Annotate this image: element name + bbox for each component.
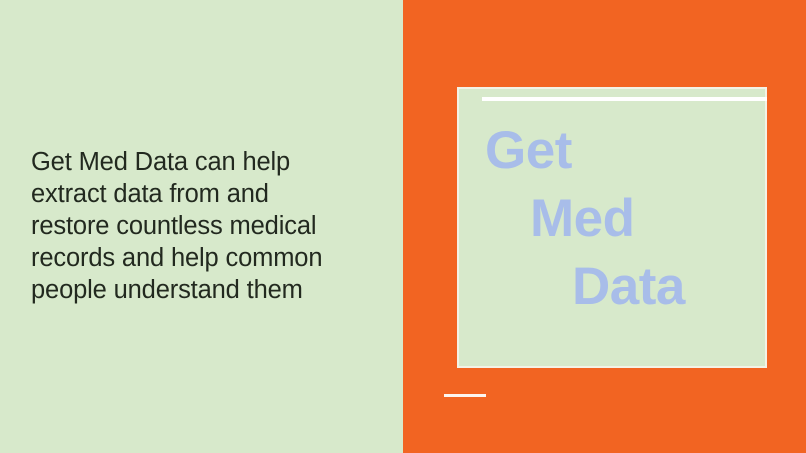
title-line-3: Data (572, 260, 685, 313)
left-panel: Get Med Data can help extract data from … (0, 0, 403, 453)
slide-canvas: Get Med Data can help extract data from … (0, 0, 806, 453)
footer-dash-divider (444, 394, 486, 397)
top-rule-divider (482, 97, 767, 101)
title-line-1: Get (485, 124, 572, 177)
title-card: Get Med Data (457, 87, 767, 368)
title-block: Get Med Data (459, 124, 765, 344)
title-line-2: Med (530, 192, 635, 245)
body-paragraph: Get Med Data can help extract data from … (31, 146, 376, 306)
right-panel: Get Med Data (403, 0, 806, 453)
